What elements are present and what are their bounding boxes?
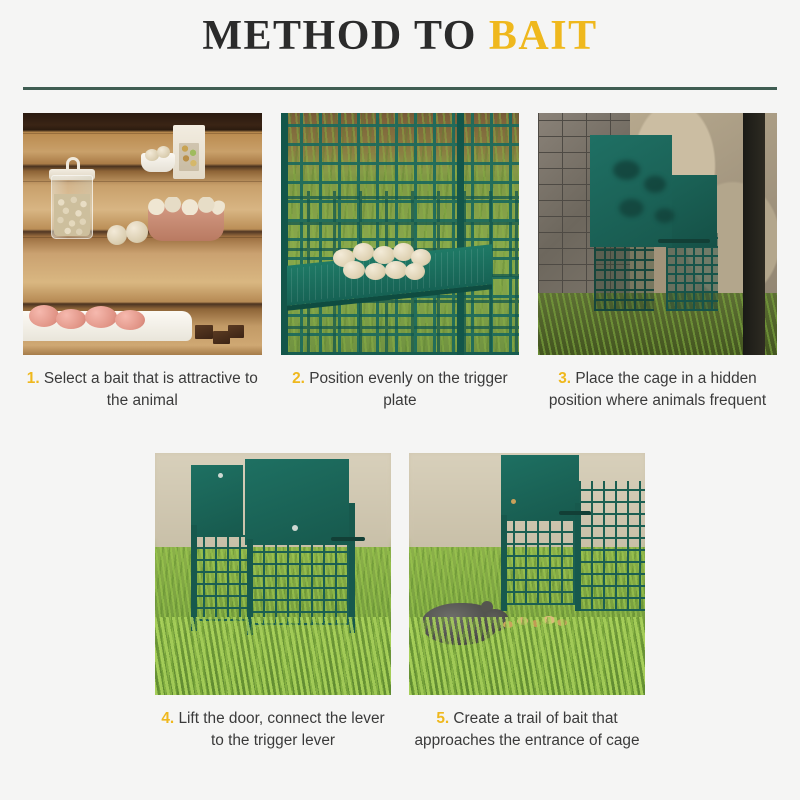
step-2-text: Position evenly on the trigger plate [305, 370, 508, 409]
step-4-number: 4. [161, 710, 174, 727]
bowl-nuts [147, 197, 225, 215]
step-1-caption: 1. Select a bait that is attractive to t… [23, 368, 262, 412]
infographic-page: METHOD TO BAIT [0, 0, 800, 800]
grass-foreground [538, 293, 777, 355]
steps-row-top: 1. Select a bait that is attractive to t… [23, 113, 777, 412]
step-3-text: Place the cage in a hidden position wher… [549, 370, 766, 409]
step-3-caption: 3. Place the cage in a hidden position w… [538, 368, 777, 412]
dark-post [743, 113, 765, 355]
step-1-number: 1. [27, 370, 40, 387]
step-2-caption: 2. Position evenly on the trigger plate [281, 368, 520, 412]
cage-mesh-entrance [501, 515, 579, 605]
cage-back-panel [191, 465, 243, 537]
step-5-photo [409, 453, 645, 695]
step-1-photo [23, 113, 262, 355]
page-title-accent: BAIT [489, 13, 598, 59]
cage-mesh-body [594, 243, 654, 311]
step-card-1: 1. Select a bait that is attractive to t… [23, 113, 262, 412]
bait-jar [51, 175, 93, 239]
trigger-lever [331, 537, 365, 541]
step-5-number: 5. [436, 710, 449, 727]
page-title: METHOD TO BAIT [0, 14, 800, 58]
trigger-lever-5 [559, 511, 591, 515]
step-4-photo [155, 453, 391, 695]
leaf-shadow [598, 151, 693, 246]
step-3-number: 3. [558, 370, 571, 387]
step-4-caption: 4. Lift the door, connect the lever to t… [155, 708, 391, 752]
step-card-4: 4. Lift the door, connect the lever to t… [155, 453, 391, 752]
step-2-photo [281, 113, 520, 355]
step-card-2: 2. Position evenly on the trigger plate [281, 113, 520, 412]
step-5-text: Create a trail of bait that approaches t… [414, 710, 639, 749]
steps-row-bottom: 4. Lift the door, connect the lever to t… [155, 453, 645, 752]
page-header: METHOD TO BAIT [0, 14, 800, 58]
cage-mesh-body-5 [579, 481, 645, 611]
header-divider [23, 87, 777, 90]
step-4-text: Lift the door, connect the lever to the … [174, 710, 384, 749]
step-1-text: Select a bait that is attractive to the … [40, 370, 258, 409]
step-card-5: 5. Create a trail of bait that approache… [409, 453, 645, 752]
cage-door-panel [245, 459, 349, 545]
step-5-caption: 5. Create a trail of bait that approache… [409, 708, 645, 752]
step-3-photo [538, 113, 777, 355]
page-title-main: METHOD TO [202, 13, 489, 59]
step-card-3: 3. Place the cage in a hidden position w… [538, 113, 777, 412]
bait-bag [173, 125, 205, 179]
step-2-number: 2. [292, 370, 305, 387]
